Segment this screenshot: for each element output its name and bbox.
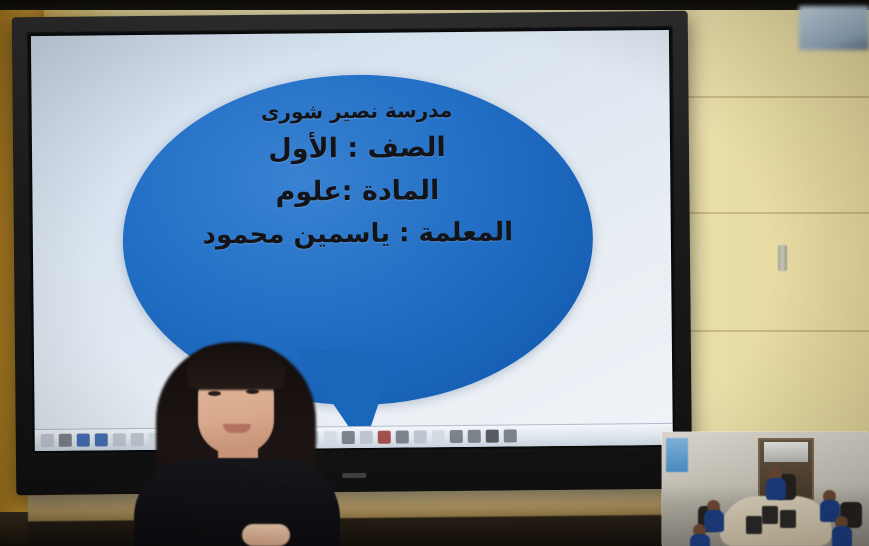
whiteboard-screen[interactable]: مدرسة نصير شورى الصف : الأول المادة :علو… [31, 30, 673, 451]
pip-student-body [766, 478, 786, 500]
desktop-window-icon[interactable] [77, 434, 90, 447]
wall-switch-icon [778, 245, 787, 271]
interactive-whiteboard[interactable]: مدرسة نصير شورى الصف : الأول المادة :علو… [12, 11, 693, 495]
brush-icon[interactable] [288, 432, 301, 445]
ceiling-light-icon [799, 6, 869, 50]
ceiling-strip [0, 0, 869, 10]
circle-shape-icon[interactable] [149, 433, 162, 446]
pip-printer-icon [764, 442, 808, 462]
picture-in-picture-view[interactable] [662, 432, 869, 546]
triangle-shape-icon[interactable] [324, 431, 337, 444]
line-tool-icon[interactable] [306, 431, 319, 444]
video-frame: مدرسة نصير شورى الصف : الأول المادة :علو… [0, 0, 869, 546]
pip-student-body [832, 526, 852, 546]
pen-tool-icon[interactable] [167, 433, 180, 446]
board-brand-mark [342, 473, 366, 478]
pip-monitor [762, 506, 778, 524]
pip-window [666, 438, 688, 472]
previous-arrow-icon[interactable] [113, 433, 126, 446]
pencil-icon[interactable] [234, 432, 247, 445]
settings-icon[interactable] [504, 429, 517, 442]
magnifier-icon[interactable] [95, 433, 108, 446]
page-icon[interactable] [360, 431, 373, 444]
pip-monitor [780, 510, 796, 528]
pip-monitor [746, 516, 762, 534]
next-arrow-icon[interactable] [131, 433, 144, 446]
highlighter-icon[interactable] [252, 432, 265, 445]
pip-student-body [690, 534, 710, 546]
cursor-arrow-icon[interactable] [59, 434, 72, 447]
ledge-shadow [28, 516, 688, 546]
color-palette-icon[interactable] [185, 432, 198, 445]
save-icon[interactable] [486, 430, 499, 443]
redo-arrow-icon[interactable] [468, 430, 481, 443]
notebook-icon[interactable] [270, 432, 283, 445]
toolbar-left-group[interactable] [41, 432, 198, 447]
pip-student-body [704, 510, 724, 532]
text-tool-icon[interactable] [342, 431, 355, 444]
eraser-icon[interactable] [396, 430, 409, 443]
select-pointer-icon[interactable] [41, 434, 54, 447]
compass-icon[interactable] [432, 430, 445, 443]
toolbar-right-group[interactable] [234, 429, 517, 445]
undo-arrow-icon[interactable] [450, 430, 463, 443]
stamp-icon[interactable] [378, 431, 391, 444]
ruler-icon[interactable] [414, 430, 427, 443]
